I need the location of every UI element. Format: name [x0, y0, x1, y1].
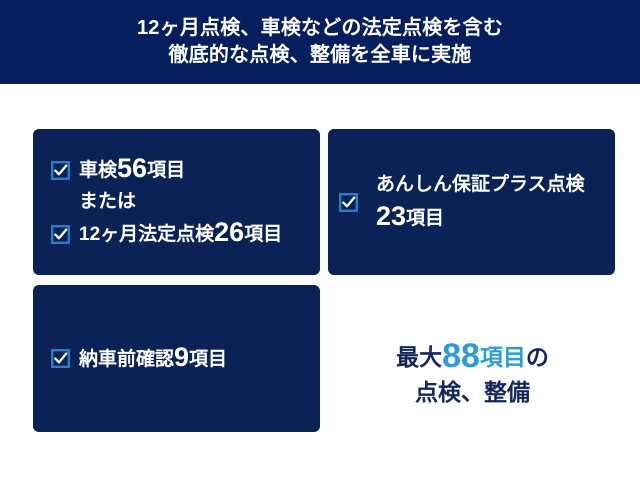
header-banner: 12ヶ月点検、車検などの法定点検を含む 徹底的な点検、整備を全車に実施 [0, 0, 640, 84]
summary-total-items: 最大88項目の 点検、整備 [330, 322, 615, 427]
card-row-text-prefix: 12ヶ月法定点検 [79, 224, 214, 245]
card-anshin-hosho-plus: あんしん保証プラス点検 23項目 [328, 129, 615, 275]
card-row-number: 23 [376, 201, 406, 231]
header-line-1: 12ヶ月点検、車検などの法定点検を含む [137, 15, 503, 42]
summary-suffix: の [526, 344, 549, 370]
summary-accent-suffix: 項目 [480, 344, 526, 370]
card-row-number: 9 [174, 342, 189, 372]
card-row-text-suffix: 項目 [147, 160, 185, 181]
card-row-number: 56 [117, 153, 147, 183]
card-row-text: 12ヶ月法定点検26項目 [79, 219, 282, 249]
card-row: 車検56項目 [51, 155, 320, 185]
card-shaken-inspection: 車検56項目 または 12ヶ月法定点検26項目 [33, 129, 320, 275]
card-row-text-prefix: または [79, 191, 136, 212]
summary-prefix: 最大 [396, 344, 442, 370]
card-row-text-suffix: 項目 [244, 224, 282, 245]
checkbox-checked-icon [51, 225, 70, 244]
summary-line-2: 点検、整備 [415, 375, 530, 410]
card-row: または [51, 188, 320, 216]
header-line-2: 徹底的な点検、整備を全車に実施 [169, 42, 472, 69]
card-row-number: 26 [214, 217, 244, 247]
summary-line-1: 最大88項目の [396, 339, 549, 375]
card-row-text-prefix: 納車前確認 [79, 349, 174, 370]
card-row-text-prefix: 車検 [79, 160, 117, 181]
summary-number: 88 [442, 337, 480, 375]
checkbox-checked-icon [51, 161, 70, 180]
card-row-text: 車検56項目 [79, 155, 185, 185]
card-row-text: 納車前確認9項目 [79, 344, 227, 374]
card-text-stack: あんしん保証プラス点検 23項目 [376, 168, 585, 236]
checkbox-checked-icon [51, 349, 70, 368]
checkbox-checked-icon [339, 193, 358, 212]
card-line-2: 23項目 [376, 202, 585, 236]
card-line-1: あんしん保証プラス点検 [376, 168, 585, 202]
card-row: 12ヶ月法定点検26項目 [51, 219, 320, 249]
card-row-text-suffix: 項目 [189, 349, 227, 370]
card-row-text: または [79, 188, 136, 216]
card-row-text-suffix: 項目 [406, 208, 444, 229]
card-pre-delivery-check: 納車前確認9項目 [33, 285, 320, 432]
